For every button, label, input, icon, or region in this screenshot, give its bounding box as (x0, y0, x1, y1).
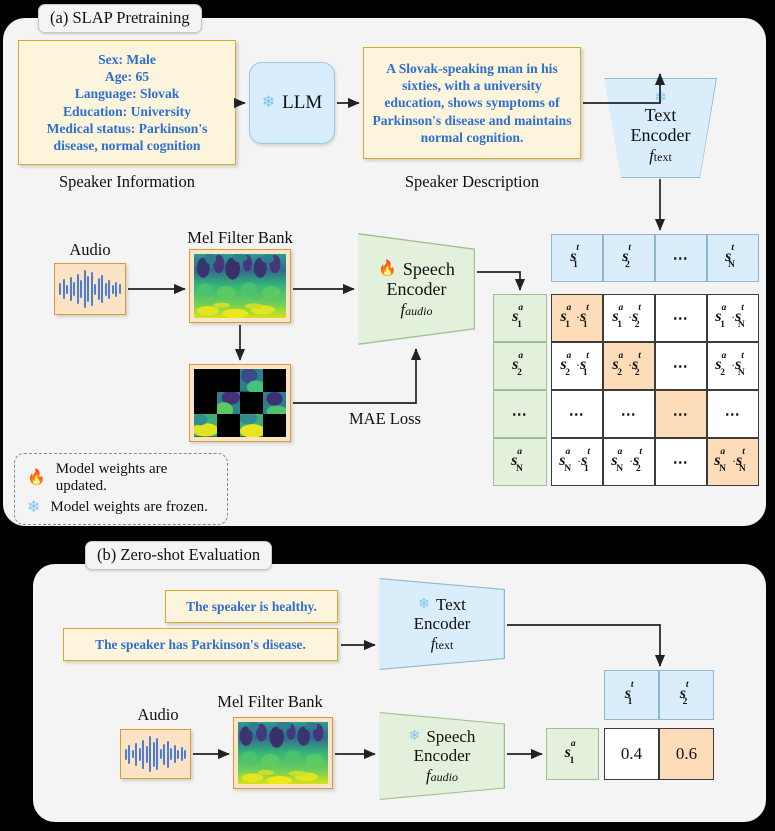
speaker-information-caption: Speaker Information (18, 172, 236, 192)
panel-b-label: (b) Zero-shot Evaluation (85, 541, 272, 570)
matrix-cell: ⋯ (655, 390, 707, 438)
matrix-row-header: ⋯ (493, 390, 547, 438)
legend-item: ❄ Model weights are frozen. (27, 499, 215, 516)
matrix-cell: ⋯ (655, 438, 707, 486)
mel-b-spectrogram (233, 717, 333, 789)
legend-item: 🔥 Model weights are updated. (27, 461, 215, 495)
speech-encoder-a-line1: Speech (403, 259, 455, 280)
mask-patch (240, 414, 263, 437)
snowflake-icon: ❄ (418, 598, 430, 612)
figure-root: (a) SLAP Pretraining Sex: Male Age: 65 L… (0, 0, 775, 831)
mask-patch (263, 414, 286, 437)
mask-patch (217, 369, 240, 392)
flame-icon: 🔥 (378, 262, 397, 277)
mel-a-spectrogram (189, 249, 291, 323)
mask-patch (217, 392, 240, 415)
masked-spectrogram (189, 364, 291, 442)
text-encoder-a: ❄ Text Encoder ftext (604, 78, 717, 178)
score-value: 0.4 (604, 728, 659, 780)
matrix-cell: sa1·st2 (603, 294, 655, 342)
matrix-cell: ⋯ (655, 342, 707, 390)
mask-patch (240, 392, 263, 415)
snowflake-icon: ❄ (654, 91, 667, 106)
matrix-col-header: st2 (603, 234, 655, 282)
legend-box: 🔥 Model weights are updated. ❄ Model wei… (14, 453, 228, 525)
llm-label: LLM (282, 92, 322, 114)
mask-patch (217, 414, 240, 437)
text-encoder-a-symbol: ftext (649, 146, 672, 165)
text-encoder-b-symbol: ftext (431, 634, 454, 653)
matrix-cell: sa2·stN (707, 342, 759, 390)
audio-a-waveform (54, 263, 126, 315)
audio-embedding-b: sa1 (546, 728, 599, 780)
snowflake-icon: ❄ (262, 95, 275, 111)
mel-b-caption: Mel Filter Bank (200, 692, 340, 712)
snowflake-icon: ❄ (409, 730, 421, 744)
speech-encoder-b-symbol: faudio (426, 766, 458, 785)
text-encoder-b-line2: Encoder (414, 614, 471, 634)
matrix-col-header: ⋯ (655, 234, 707, 282)
matrix-cell: sa1·st1 (551, 294, 603, 342)
mask-patch (263, 369, 286, 392)
matrix-cell: saN·st1 (551, 438, 603, 486)
matrix-cell: sa1·stN (707, 294, 759, 342)
matrix-col-header: st1 (551, 234, 603, 282)
mask-patch (194, 414, 217, 437)
mask-patch-grid (194, 369, 286, 437)
score-col-header: st2 (659, 670, 714, 720)
audio-a-caption: Audio (50, 240, 130, 260)
matrix-row-header: sa1 (493, 294, 547, 342)
audio-b-waveform (120, 729, 191, 779)
speech-encoder-a-line2: Encoder (387, 279, 447, 300)
speech-encoder-b: ❄ Speech Encoder faudio (379, 712, 505, 800)
matrix-row-header: saN (493, 438, 547, 486)
matrix-cell: sa2·st1 (551, 342, 603, 390)
mask-patch (194, 369, 217, 392)
mask-patch (240, 369, 263, 392)
score-value: 0.6 (659, 728, 714, 780)
speaker-description-box: A Slovak-speaking man in his sixties, wi… (363, 47, 581, 159)
matrix-cell: ⋯ (603, 390, 655, 438)
legend-item-label: Model weights are frozen. (50, 499, 207, 516)
speech-encoder-b-line2: Encoder (414, 746, 471, 766)
matrix-cell: ⋯ (707, 390, 759, 438)
matrix-cell: sa2·st2 (603, 342, 655, 390)
legend-item-label: Model weights are updated. (56, 461, 215, 495)
speech-encoder-b-line1: Speech (426, 727, 475, 747)
matrix-col-header: stN (707, 234, 759, 282)
mae-loss-label: MAE Loss (330, 409, 440, 429)
speech-encoder-a: 🔥 Speech Encoder faudio (358, 233, 475, 345)
matrix-cell: ⋯ (551, 390, 603, 438)
text-encoder-b: ❄ Text Encoder ftext (379, 578, 505, 670)
snowflake-icon: ❄ (27, 500, 40, 516)
text-encoder-b-line1: Text (436, 595, 466, 615)
flame-icon: 🔥 (27, 471, 46, 486)
matrix-cell: saN·stN (707, 438, 759, 486)
matrix-row-header: sa2 (493, 342, 547, 390)
mel-a-caption: Mel Filter Bank (170, 228, 310, 248)
prompt-healthy: The speaker is healthy. (165, 590, 338, 623)
matrix-cell: ⋯ (655, 294, 707, 342)
llm-box: ❄ LLM (249, 62, 335, 144)
text-encoder-a-line1: Text (645, 105, 677, 126)
speech-encoder-a-symbol: faudio (401, 300, 433, 319)
speaker-information-box: Sex: Male Age: 65 Language: Slovak Educa… (18, 40, 236, 165)
mask-patch (263, 392, 286, 415)
audio-b-caption: Audio (118, 705, 198, 725)
text-encoder-a-line2: Encoder (631, 125, 691, 146)
score-col-header: st1 (604, 670, 659, 720)
mask-patch (194, 392, 217, 415)
panel-a-label: (a) SLAP Pretraining (38, 4, 202, 33)
matrix-cell: saN·st2 (603, 438, 655, 486)
prompt-parkinsons: The speaker has Parkinson's disease. (63, 628, 338, 661)
speaker-description-caption: Speaker Description (363, 172, 581, 192)
